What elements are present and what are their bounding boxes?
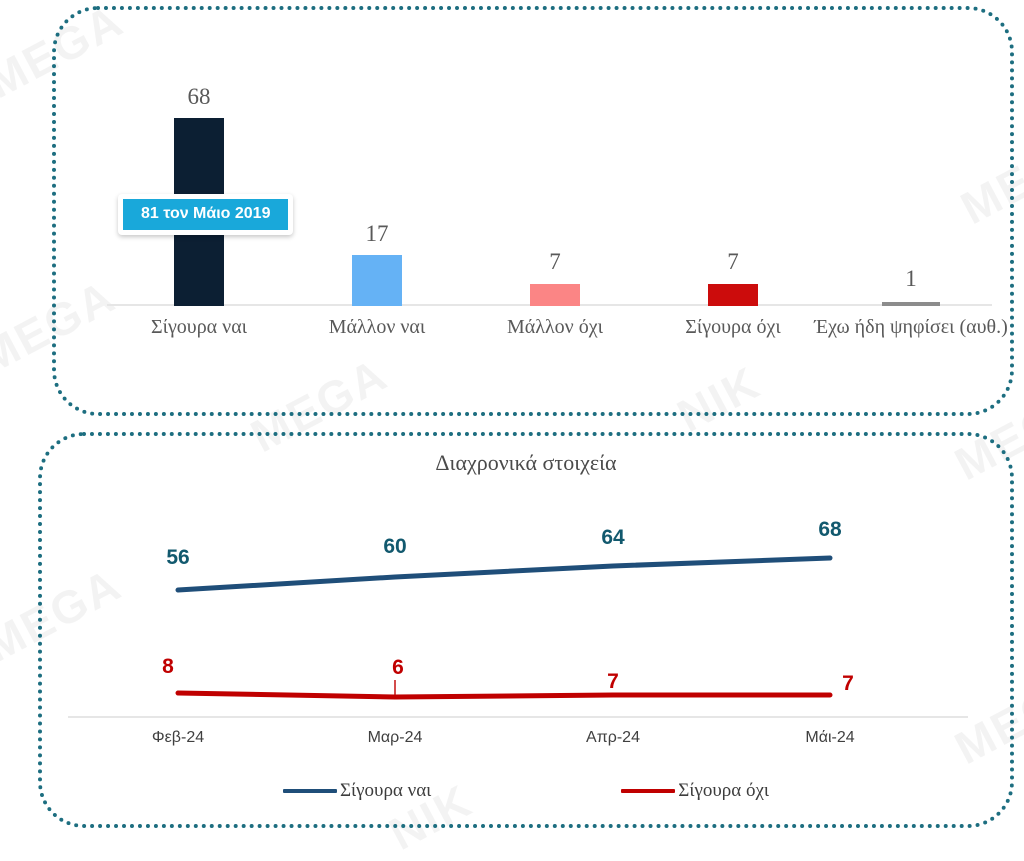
trend-x-label: Μαρ-24 [368,729,423,747]
trend-chart-plot [38,432,1014,828]
bar-column-sigoura-ochi[interactable]: 7 Σίγουρα όχι [644,66,822,306]
legend-swatch-blue [283,789,337,793]
bar-column-echo-idi-psifisei[interactable]: 1 Έχω ήδη ψηφίσει (αυθ.) [822,66,1000,306]
bar-rect[interactable] [882,302,940,306]
trend-value-label: 7 [607,670,619,694]
bar-rect[interactable] [708,284,758,306]
bar-chart: 68 Σίγουρα ναι 17 Μάλλον ναι 7 Μάλλον όχ… [52,6,1014,416]
legend-label: Σίγουρα ναι [340,780,431,802]
bar-value: 17 [288,221,466,247]
trend-value-label: 6 [392,656,404,680]
bar-column-mallon-ochi[interactable]: 7 Μάλλον όχι [466,66,644,306]
bar-category-label: Έχω ήδη ψηφίσει (αυθ.) [810,314,1012,341]
trend-value-label: 68 [818,518,841,542]
bar-value: 68 [110,84,288,110]
bar-rect[interactable] [530,284,580,306]
tooltip-badge-label: 81 τον Μάιο 2019 [123,199,288,230]
bar-value: 7 [644,249,822,275]
trend-value-label: 56 [166,546,189,570]
bar-category-label: Σίγουρα όχι [632,314,834,341]
bar-category-label: Σίγουρα ναι [98,314,300,341]
bar-column-mallon-nai[interactable]: 17 Μάλλον ναι [288,66,466,306]
trend-value-label: 8 [162,655,174,679]
trend-chart-legend: Σίγουρα ναι Σίγουρα όχι [38,780,1014,802]
legend-label: Σίγουρα όχι [678,780,769,802]
trend-x-label: Φεβ-24 [152,729,204,747]
bar-category-label: Μάλλον ναι [276,314,478,341]
trend-line-sigoura-ochi[interactable] [178,693,830,697]
trend-chart: Διαχρονικά στοιχεία 56 60 64 68 8 6 7 7 … [38,432,1014,828]
legend-swatch-red [621,789,675,793]
trend-x-label: Απρ-24 [586,729,640,747]
trend-value-label: 64 [601,526,624,550]
legend-item-sigoura-ochi[interactable]: Σίγουρα όχι [621,780,769,802]
tooltip-badge[interactable]: 81 τον Μάιο 2019 [118,194,293,235]
legend-item-sigoura-nai[interactable]: Σίγουρα ναι [283,780,431,802]
bar-value: 7 [466,249,644,275]
trend-value-label: 7 [842,672,854,696]
bar-category-label: Μάλλον όχι [454,314,656,341]
bar-column-sigoura-nai[interactable]: 68 Σίγουρα ναι [110,66,288,306]
bar-value: 1 [822,266,1000,292]
trend-value-label: 60 [383,535,406,559]
bar-rect[interactable] [352,255,402,306]
trend-x-label: Μάι-24 [805,729,854,747]
trend-line-sigoura-nai[interactable] [178,558,830,590]
